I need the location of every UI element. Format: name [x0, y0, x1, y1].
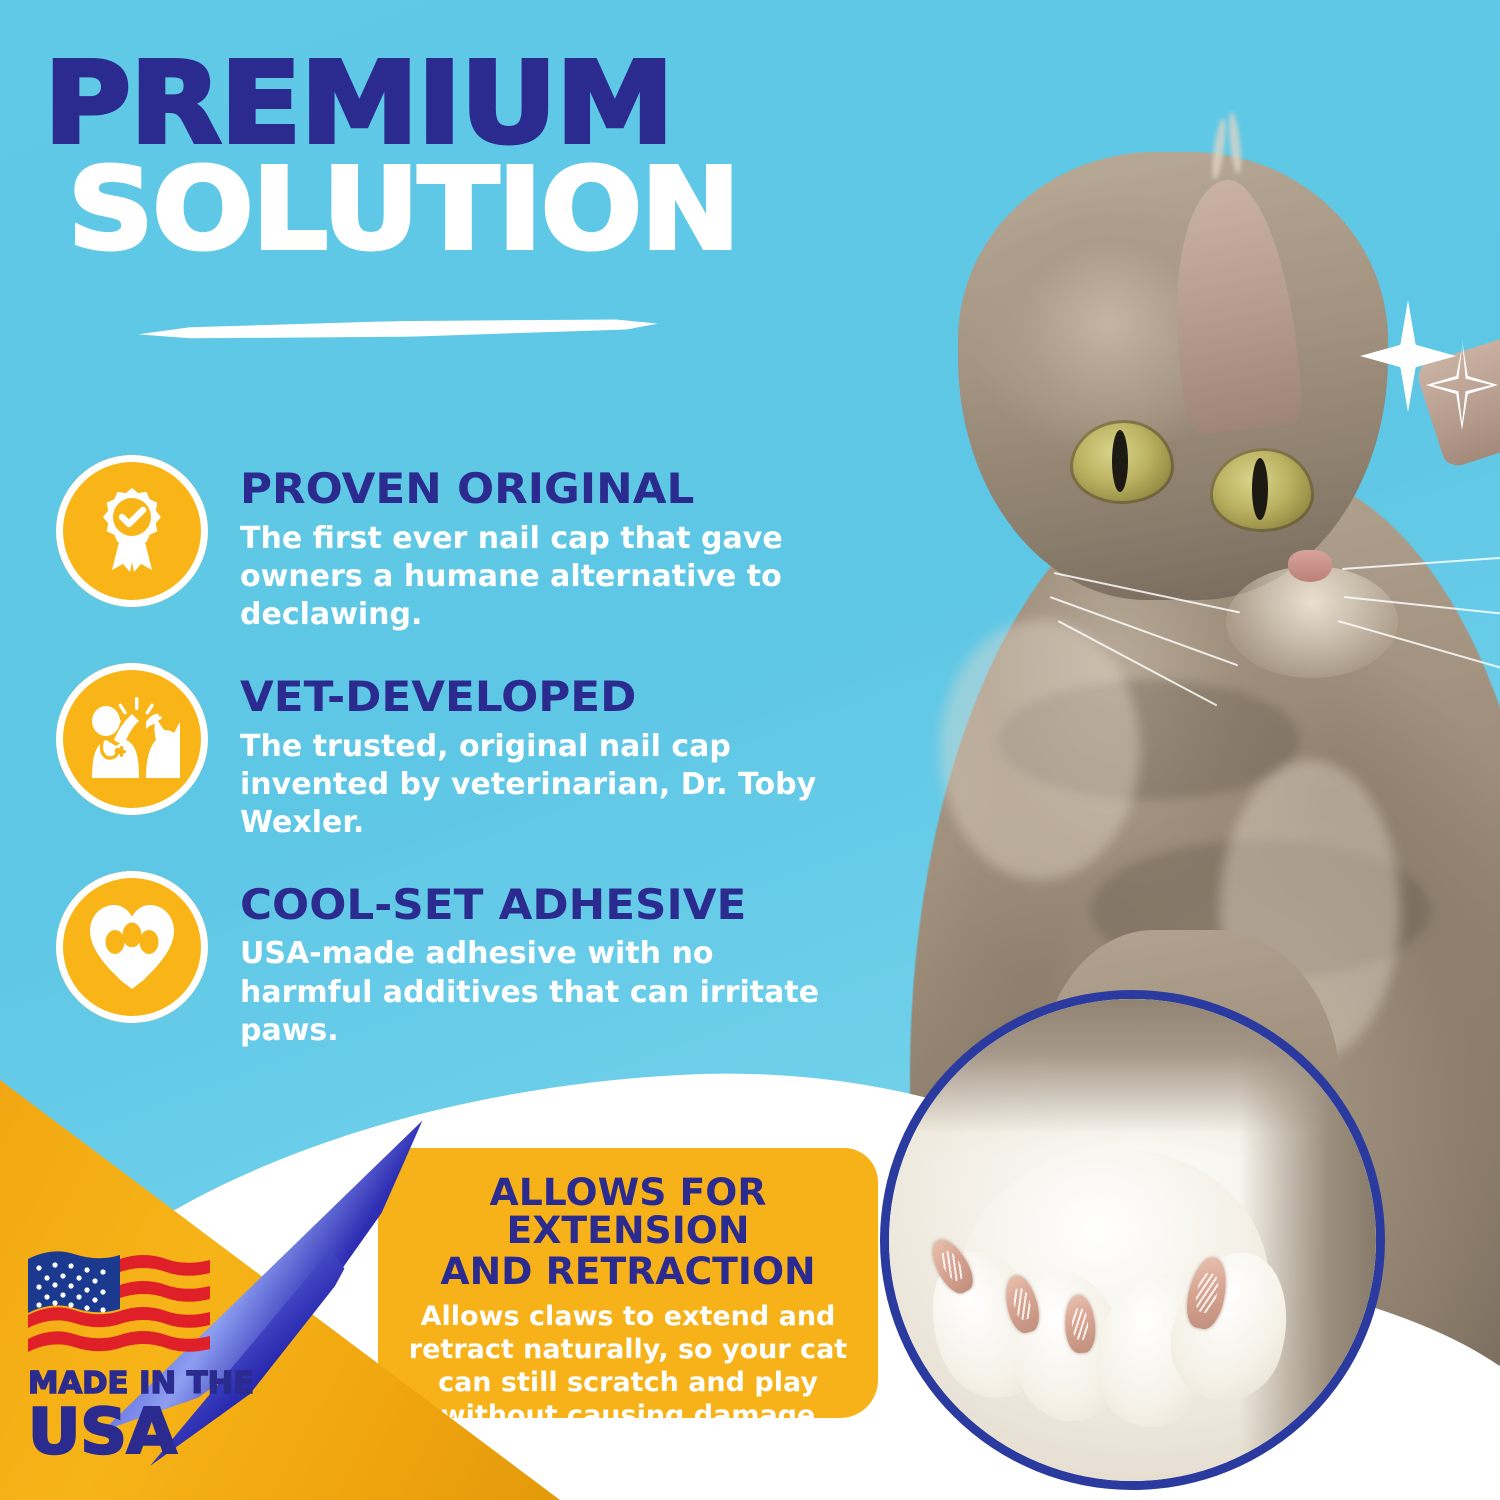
feature-title: VET-DEVELOPED: [240, 675, 874, 719]
feature-title: COOL-SET ADHESIVE: [240, 883, 874, 927]
feature-description: The first ever nail cap that gave owners…: [240, 520, 850, 635]
product-infographic-poster: PREMIUM SOLUTION PROVEN ORIGINAL T: [0, 0, 1500, 1500]
cat-eye-right: [1210, 448, 1314, 532]
made-in-usa-badge: MADE IN THE USA: [28, 1239, 258, 1464]
vet-high-five-cat-icon: [56, 663, 208, 815]
callout-description: Allows claws to extend and retract natur…: [396, 1301, 860, 1433]
callout-title-line-1: ALLOWS FOR EXTENSION: [391, 1174, 864, 1251]
feature-description: USA-made adhesive with no harmful additi…: [240, 935, 850, 1050]
callout-title-line-2: AND RETRACTION: [391, 1253, 864, 1291]
feature-description: The trusted, original nail cap invented …: [240, 728, 850, 843]
usa-label: USA: [28, 1399, 267, 1464]
award-ribbon-icon: [56, 455, 208, 607]
feature-text: VET-DEVELOPED The trusted, original nail…: [208, 663, 850, 843]
feature-text: COOL-SET ADHESIVE USA-made adhesive with…: [208, 871, 850, 1051]
feature-item: COOL-SET ADHESIVE USA-made adhesive with…: [56, 871, 856, 1051]
cat-paw-with-nail-caps-closeup: [880, 990, 1385, 1490]
cat-eye-left: [1070, 420, 1174, 504]
cat-muzzle: [1226, 566, 1398, 678]
usa-flag-icon: [28, 1239, 210, 1355]
feature-list: PROVEN ORIGINAL The first ever nail cap …: [56, 455, 856, 1079]
headline-line-solution: SOLUTION: [68, 157, 880, 265]
cat-ear-left: [1161, 175, 1304, 436]
headline-block: PREMIUM SOLUTION: [44, 52, 834, 265]
brush-stroke-underline-icon: [138, 313, 658, 345]
feature-item: PROVEN ORIGINAL The first ever nail cap …: [56, 455, 856, 635]
feature-text: PROVEN ORIGINAL The first ever nail cap …: [208, 455, 850, 635]
sparkle-star-outline-icon: [1426, 340, 1498, 430]
extension-retraction-callout: ALLOWS FOR EXTENSION AND RETRACTION Allo…: [378, 1148, 878, 1418]
heart-paw-icon: [56, 871, 208, 1023]
feature-item: VET-DEVELOPED The trusted, original nail…: [56, 663, 856, 843]
feature-title: PROVEN ORIGINAL: [240, 467, 874, 511]
cat-head: [958, 152, 1388, 600]
headline-line-premium: PREMIUM: [44, 52, 881, 157]
cat-nose: [1288, 550, 1332, 582]
